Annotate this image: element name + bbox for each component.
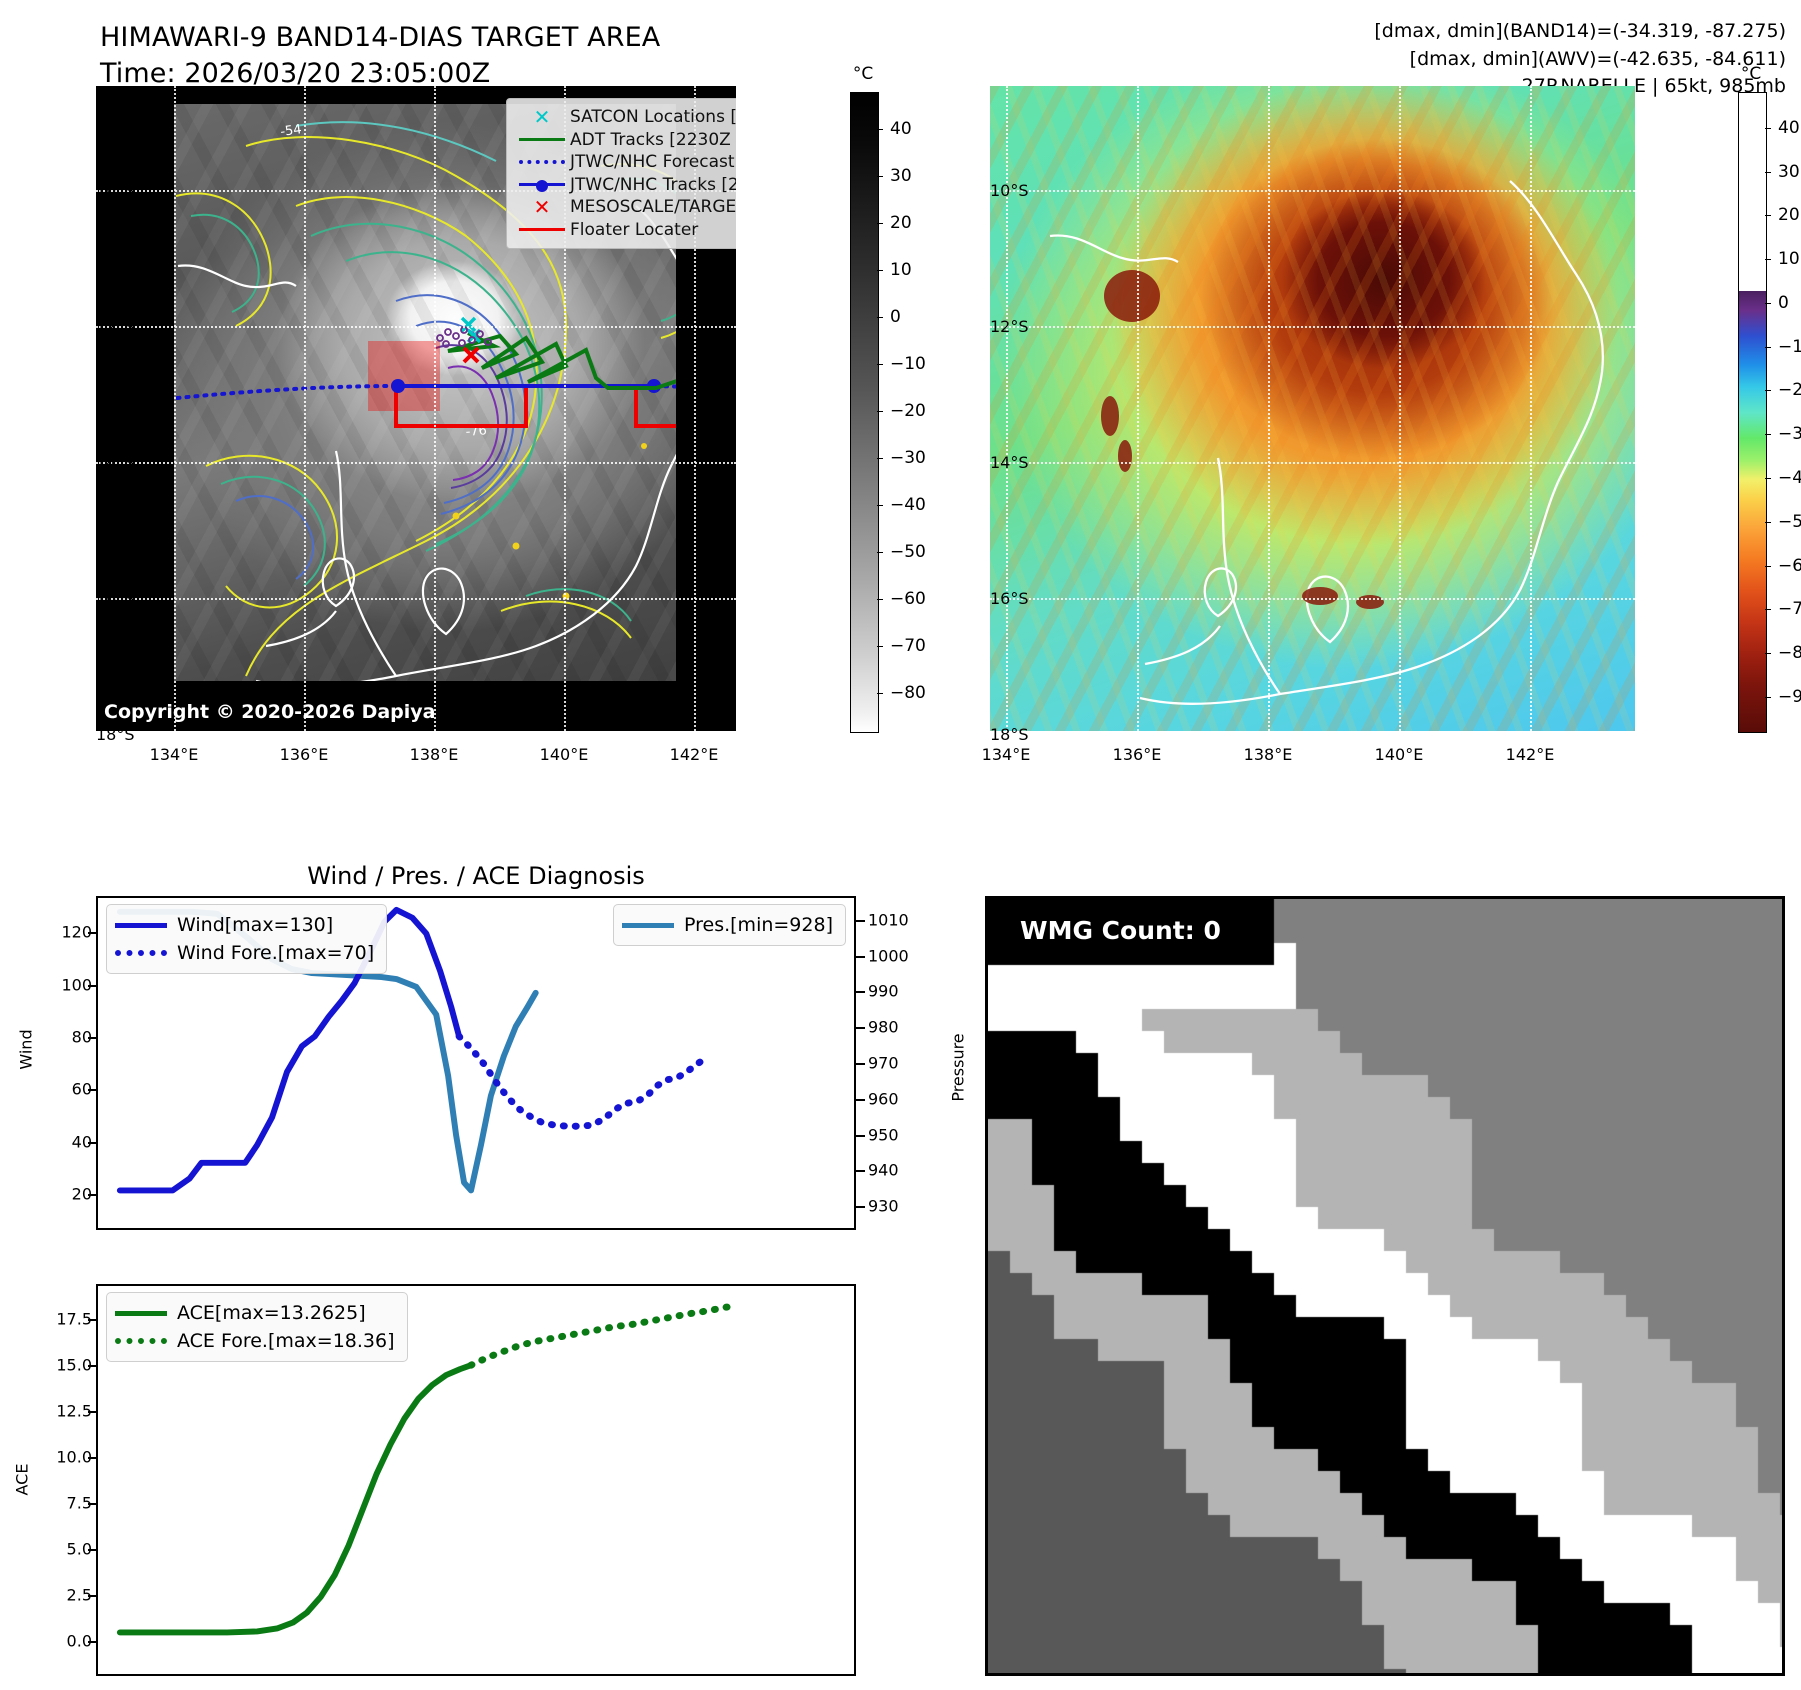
colorbar-tickmark: [1765, 259, 1771, 260]
legend-item-satcon[interactable]: ✕ SATCON Locations [1730Z 67 975]: [514, 106, 736, 129]
colorbar-tickmark: [1765, 609, 1771, 610]
colorbar-tickmark: [1765, 128, 1771, 129]
axis-tick-label: 980: [868, 1018, 899, 1037]
wind-forecast-series: [459, 1036, 707, 1126]
axis-tick-label: 120: [36, 923, 92, 942]
copyright-text: Copyright © 2020-2026 Dapiya: [104, 701, 435, 723]
colorbar-tickmark: [877, 458, 883, 459]
axis-tick-label: 990: [868, 982, 899, 1001]
satcon-location-markers: [462, 318, 480, 342]
solid-line-icon: [514, 228, 570, 231]
colorbar-tick-label: 40: [1778, 118, 1800, 138]
colorbar-tickmark: [877, 646, 883, 647]
colorbar-tick-label: −70: [890, 636, 926, 656]
ace-chart[interactable]: ACE[max=13.2625] ACE Fore.[max=18.36]: [96, 1284, 856, 1676]
axis-tickmark: [88, 1595, 97, 1597]
axis-tickmark: [88, 1365, 97, 1367]
axis-tickmark: [88, 1037, 97, 1039]
legend-label: Floater Locater: [570, 220, 698, 240]
colorbar-tickmark: [877, 223, 883, 224]
colorbar-tickmark: [877, 364, 883, 365]
axis-tick-label: 2.5: [36, 1586, 92, 1605]
ace-legend: ACE[max=13.2625] ACE Fore.[max=18.36]: [106, 1292, 408, 1362]
ace-axis-label: ACE: [12, 1464, 31, 1496]
axis-tickmark: [88, 932, 97, 934]
legend-label: Wind Fore.[max=70]: [177, 942, 374, 964]
axis-tick-label: 960: [868, 1089, 899, 1108]
legend-item-mesoscale[interactable]: ✕ MESOSCALE/TARGET Location: [514, 196, 736, 219]
axis-tickmark: [88, 1142, 97, 1144]
colorbar-tick-label: −60: [1778, 556, 1801, 576]
axis-tick-label: 1000: [868, 946, 909, 965]
wmg-count-badge: WMG Count: 0: [1004, 911, 1237, 951]
dotted-line-icon: [514, 160, 570, 164]
legend-item-wind-forecast[interactable]: Wind Fore.[max=70]: [115, 939, 374, 967]
axis-tick-label: 5.0: [36, 1540, 92, 1559]
axis-tickmark: [856, 1027, 865, 1029]
colorbar-tick-label: −70: [1778, 599, 1801, 619]
colorbar-tick-label: −90: [1778, 687, 1801, 707]
axis-tickmark: [856, 956, 865, 958]
colorbar-tickmark: [877, 129, 883, 130]
legend-label: SATCON Locations [1730Z 67 975]: [570, 107, 736, 127]
legend-item-ace[interactable]: ACE[max=13.2625]: [115, 1299, 395, 1327]
colorbar-tick-label: −50: [890, 542, 926, 562]
axis-tick-label: 100: [36, 975, 92, 994]
axis-tick-label: 60: [36, 1080, 92, 1099]
wind-axis-label: Wind: [17, 1029, 36, 1069]
colorbar-tick-label: −20: [1778, 380, 1801, 400]
axis-tickmark: [856, 1206, 865, 1208]
axis-tick-label: 970: [868, 1054, 899, 1073]
enhanced-ir-map[interactable]: [990, 86, 1635, 731]
colorbar-tick-label: −30: [890, 448, 926, 468]
axis-tick-label: 15.0: [36, 1356, 92, 1375]
colorbar-tick-label: 10: [890, 260, 912, 280]
axis-tickmark: [88, 1457, 97, 1459]
colorbar-tickmark: [1765, 172, 1771, 173]
colorbar-tick-label: −50: [1778, 512, 1801, 532]
target-area-box: [368, 341, 440, 411]
colorbar-tickmark: [1765, 347, 1771, 348]
colorbar-tickmark: [1765, 697, 1771, 698]
axis-tickmark: [856, 1170, 865, 1172]
axis-tickmark: [88, 1503, 97, 1505]
solid-line-icon: [115, 923, 177, 928]
axis-tickmark: [88, 1089, 97, 1091]
colorbar-tickmark: [877, 505, 883, 506]
ace-forecast-series: [471, 1306, 735, 1365]
legend-item-pressure[interactable]: Pres.[min=928]: [622, 911, 833, 939]
colorbar-unit-label: °C: [853, 64, 873, 84]
wmg-raster: [988, 899, 1782, 1673]
top-left-title: HIMAWARI-9 BAND14-DIAS TARGET AREA Time:…: [100, 20, 660, 91]
axis-tick-label: 40: [36, 1132, 92, 1151]
legend-item-wind[interactable]: Wind[max=130]: [115, 911, 374, 939]
legend-item-jtwc-tracks[interactable]: JTWC/NHC Tracks [20/1800Z]: [514, 174, 736, 197]
colorbar-tickmark: [1765, 522, 1771, 523]
axis-tickmark: [856, 1063, 865, 1065]
colorbar-tick-label: 10: [1778, 249, 1800, 269]
colorbar-tickmark: [1765, 566, 1771, 567]
axis-tick-label: 950: [868, 1125, 899, 1144]
colorbar-tick-label: −10: [890, 354, 926, 374]
axis-tick-label: 1010: [868, 910, 909, 929]
x-marker-icon: ✕: [514, 197, 570, 217]
colorbar-tickmark: [1765, 434, 1771, 435]
colorbar-gradient: [850, 92, 879, 733]
axis-tickmark: [856, 1135, 865, 1137]
ace-series-line: [120, 1365, 471, 1632]
dotted-line-icon: [115, 1338, 177, 1344]
wind-pressure-chart[interactable]: Wind[max=130] Wind Fore.[max=70] Pres.[m…: [96, 896, 856, 1230]
wmg-panel[interactable]: WMG Count: 0: [985, 896, 1785, 1676]
diagnosis-title: Wind / Pres. / ACE Diagnosis: [96, 862, 856, 890]
colorbar-tick-label: 0: [890, 307, 901, 327]
colorbar-tick-label: −40: [1778, 468, 1801, 488]
ir-coastline-overlay: [990, 86, 1635, 731]
colorbar-tickmark: [1765, 653, 1771, 654]
axis-tick-label: 0.0: [36, 1632, 92, 1651]
legend-label: JTWC/NHC Forecast [20/1800Z]: [570, 152, 736, 172]
colorbar-tickmark: [1765, 478, 1771, 479]
axis-tickmark: [856, 991, 865, 993]
legend-label: Pres.[min=928]: [684, 914, 833, 936]
axis-tickmark: [88, 1549, 97, 1551]
legend-label: ACE Fore.[max=18.36]: [177, 1330, 395, 1352]
coastline: [178, 206, 715, 686]
axis-tickmark: [88, 1319, 97, 1321]
band14-grayscale-map[interactable]: -54 -76: [96, 86, 736, 731]
colorbar-tick-label: 30: [890, 166, 912, 186]
dotted-line-icon: [115, 950, 177, 956]
colorbar-tickmark: [877, 693, 883, 694]
axis-tick-label: 12.5: [36, 1402, 92, 1421]
colorbar-tick-label: −60: [890, 589, 926, 609]
legend-item-ace-forecast[interactable]: ACE Fore.[max=18.36]: [115, 1327, 395, 1355]
axis-tickmark: [88, 1411, 97, 1413]
colorbar-tick-label: −20: [890, 401, 926, 421]
axis-tick-label: 940: [868, 1161, 899, 1180]
colorbar-tick-label: 40: [890, 119, 912, 139]
colorbar-tick-label: 0: [1778, 293, 1789, 313]
axis-tick-label: 80: [36, 1027, 92, 1046]
legend-label: JTWC/NHC Tracks [20/1800Z]: [570, 175, 736, 195]
colorbar-unit-label: °C: [1741, 64, 1761, 84]
colorbar-tickmark: [1765, 390, 1771, 391]
colorbar-tick-label: 20: [890, 213, 912, 233]
colorbar-tick-label: −40: [890, 495, 926, 515]
pressure-legend: Pres.[min=928]: [613, 904, 846, 946]
axis-tick-label: 17.5: [36, 1310, 92, 1329]
map-legend: ✕ SATCON Locations [1730Z 67 975] ADT Tr…: [506, 98, 736, 249]
legend-label: ADT Tracks [2230Z 72.2 981.0]: [570, 130, 736, 150]
axis-tick-label: 10.0: [36, 1448, 92, 1467]
solid-line-icon: [514, 138, 570, 141]
legend-item-adt[interactable]: ADT Tracks [2230Z 72.2 981.0]: [514, 129, 736, 152]
x-marker-icon: ✕: [514, 107, 570, 127]
legend-item-jtwc-forecast[interactable]: JTWC/NHC Forecast [20/1800Z]: [514, 151, 736, 174]
colorbar-tickmark: [1765, 215, 1771, 216]
colorbar-gradient: [1738, 92, 1767, 733]
colorbar-tick-label: −10: [1778, 337, 1801, 357]
colorbar-tick-label: −80: [890, 683, 926, 703]
colorbar-tickmark: [1765, 303, 1771, 304]
axis-tickmark: [88, 1641, 97, 1643]
colorbar-tickmark: [877, 270, 883, 271]
colorbar-tickmark: [877, 411, 883, 412]
axis-tick-label: 930: [868, 1197, 899, 1216]
axis-tickmark: [88, 985, 97, 987]
colorbar-tickmark: [877, 176, 883, 177]
axis-tick-label: 7.5: [36, 1494, 92, 1513]
colorbar-tick-label: −30: [1778, 424, 1801, 444]
colorbar-tickmark: [877, 599, 883, 600]
axis-tickmark: [88, 1194, 97, 1196]
solid-line-icon: [622, 923, 684, 928]
axis-tickmark: [856, 920, 865, 922]
pressure-axis-label: Pressure: [949, 1033, 968, 1101]
colorbar-tickmark: [877, 552, 883, 553]
colorbar-tick-label: 20: [1778, 205, 1800, 225]
axis-tickmark: [856, 1099, 865, 1101]
wind-legend: Wind[max=130] Wind Fore.[max=70]: [106, 904, 387, 974]
legend-label: Wind[max=130]: [177, 914, 333, 936]
colorbar-tick-label: −80: [1778, 643, 1801, 663]
solid-line-icon: [115, 1311, 177, 1316]
legend-label: MESOSCALE/TARGET Location: [570, 197, 736, 217]
axis-tick-label: 20: [36, 1184, 92, 1203]
colorbar-tick-label: 30: [1778, 162, 1800, 182]
colorbar-tickmark: [877, 317, 883, 318]
line-dot-marker-icon: [514, 183, 570, 186]
legend-label: ACE[max=13.2625]: [177, 1302, 366, 1324]
legend-item-floater[interactable]: Floater Locater: [514, 219, 736, 242]
